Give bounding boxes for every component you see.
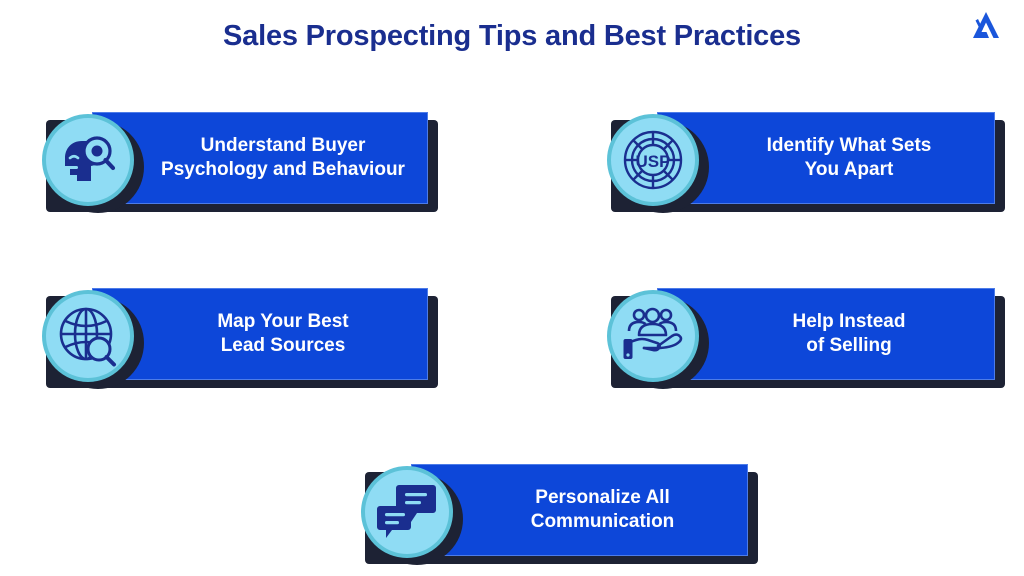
tip-card-personalize-all-communication[interactable]: Personalize All Communication [355, 464, 748, 556]
tip-card-understand-buyer-psychology[interactable]: Understand Buyer Psychology and Behaviou… [36, 112, 428, 204]
card-label: Identify What Sets You Apart [767, 134, 932, 183]
card-label: Personalize All Communication [531, 486, 675, 535]
globe-magnifier-icon [56, 304, 120, 368]
tip-card-help-instead-of-selling[interactable]: Help Instead of Selling [601, 288, 995, 380]
usp-wheel-icon: USP [621, 128, 685, 192]
card-label: Map Your Best Lead Sources [217, 310, 348, 359]
hand-people-icon [621, 305, 685, 367]
brand-logo-icon [966, 8, 1006, 46]
icon-circle [42, 290, 134, 382]
page-title: Sales Prospecting Tips and Best Practice… [0, 20, 1024, 53]
icon-circle [42, 114, 134, 206]
card-label: Help Instead of Selling [793, 310, 906, 359]
head-magnifier-icon [57, 129, 119, 191]
icon-circle [361, 466, 453, 558]
tip-card-identify-what-sets-you-apart[interactable]: Identify What Sets You Apart USP [601, 112, 995, 204]
card-label: Understand Buyer Psychology and Behaviou… [161, 134, 405, 183]
tip-card-map-your-best-lead-sources[interactable]: Map Your Best Lead Sources [36, 288, 428, 380]
usp-icon-text: USP [636, 152, 671, 171]
icon-circle [607, 290, 699, 382]
icon-circle: USP [607, 114, 699, 206]
speech-bubbles-icon [377, 483, 437, 541]
